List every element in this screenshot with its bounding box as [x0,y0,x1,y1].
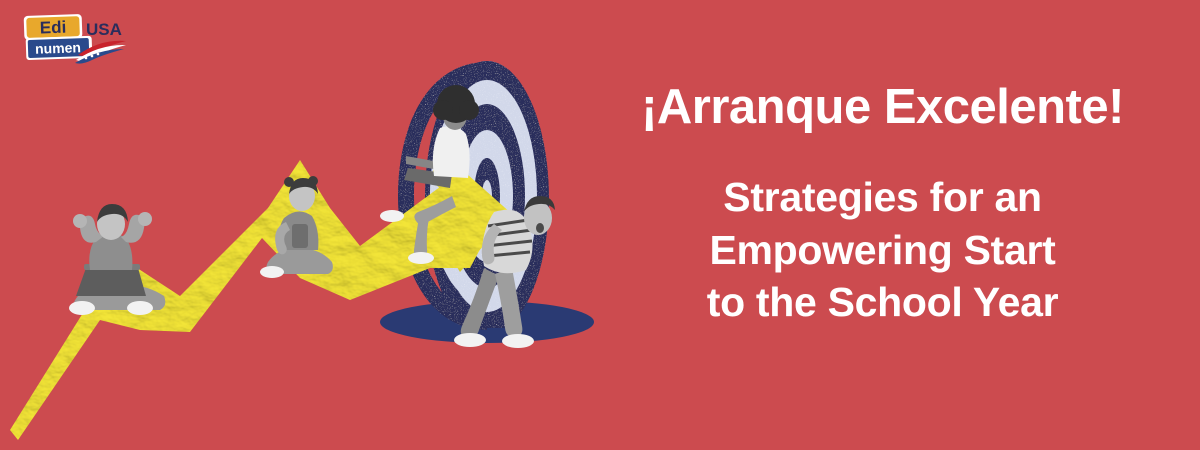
logo-usa-text: USA [86,20,122,39]
logo-edi-text: Edi [40,18,67,38]
banner-headline: ¡Arranque Excelente! [575,82,1190,133]
edinumen-usa-logo[interactable]: Edi numen USA [18,10,128,65]
banner-text-block: ¡Arranque Excelente! Strategies for an E… [575,82,1190,328]
banner-subtitle-line-1: Strategies for an [575,171,1190,223]
person-cheering-with-laptop [69,204,165,315]
banner-subtitle-line-3: to the School Year [575,276,1190,328]
banner-subtitle-line-2: Empowering Start [575,224,1190,276]
promo-banner: Edi numen USA ¡Arranque Excelente! [0,0,1200,450]
logo-numen-text: numen [35,39,81,57]
logo-edi-box: Edi [24,14,83,40]
collage-artwork [0,0,620,450]
